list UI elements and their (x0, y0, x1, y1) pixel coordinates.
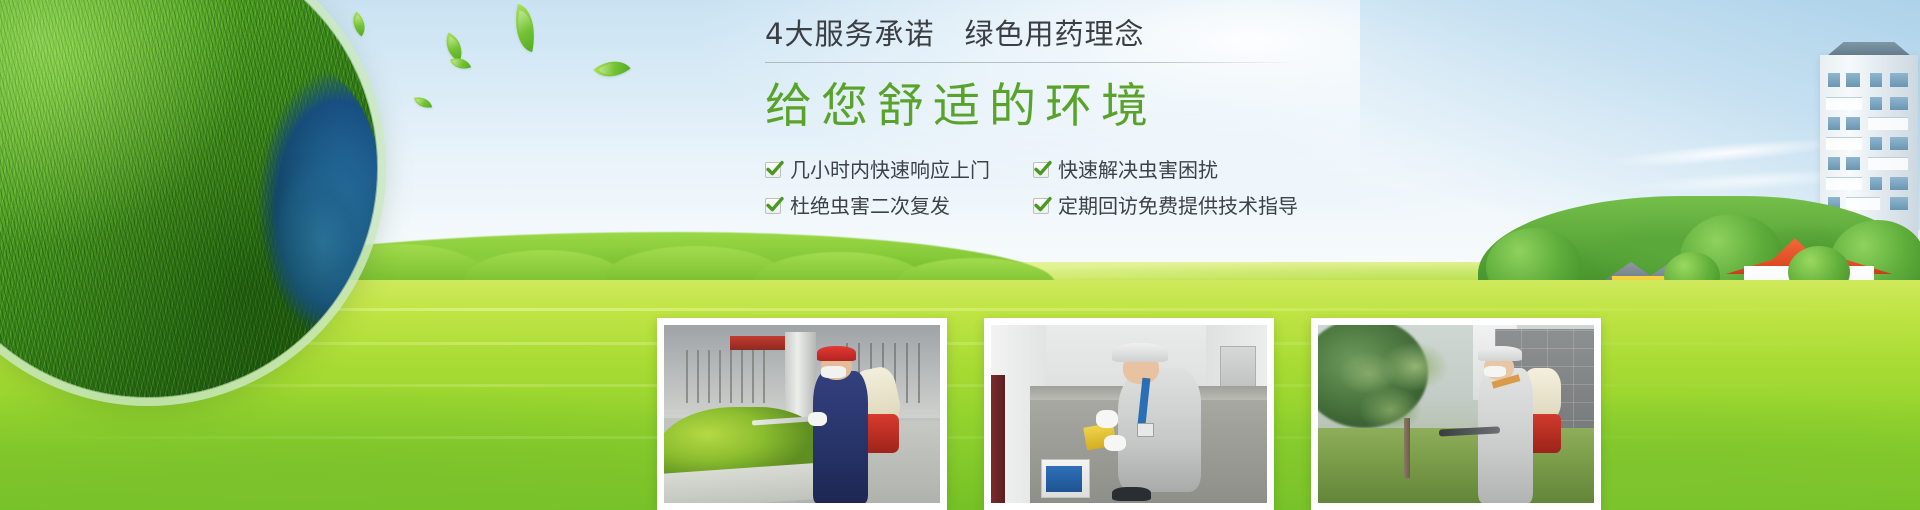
divider-line (765, 62, 1300, 63)
feature-list: 几小时内快速响应上门 快速解决虫害困扰 杜绝虫害二次复发 (765, 159, 1325, 217)
check-square-icon (1033, 198, 1049, 214)
check-square-icon (765, 162, 781, 178)
photo-card[interactable] (657, 318, 947, 510)
list-item: 杜绝虫害二次复发 (765, 195, 1033, 217)
grass-globe-icon (0, 0, 378, 398)
promo-banner: 4大服务承诺 绿色用药理念 给您舒适的环境 几小时内快速响应上门 快速解决虫害困 (0, 0, 1920, 510)
check-square-icon (1033, 162, 1049, 178)
list-item: 快速解决虫害困扰 (1033, 159, 1325, 181)
photo-card[interactable] (984, 318, 1274, 510)
list-item-label: 杜绝虫害二次复发 (790, 195, 950, 217)
photo-card-row (657, 318, 1601, 510)
service-photo-outdoor-spraying (664, 325, 940, 503)
list-item-label: 定期回访免费提供技术指导 (1058, 195, 1298, 217)
page-title: 给您舒适的环境 (765, 77, 1325, 137)
check-square-icon (765, 198, 781, 214)
list-item: 定期回访免费提供技术指导 (1033, 195, 1325, 217)
service-photo-indoor-bait (991, 325, 1267, 503)
service-photo-tree-spraying (1318, 325, 1594, 503)
list-item: 几小时内快速响应上门 (765, 159, 1033, 181)
banner-copy: 4大服务承诺 绿色用药理念 给您舒适的环境 几小时内快速响应上门 快速解决虫害困 (765, 12, 1325, 217)
list-item-label: 快速解决虫害困扰 (1058, 159, 1218, 181)
eyebrow-text: 4大服务承诺 绿色用药理念 (765, 12, 1325, 56)
list-item-label: 几小时内快速响应上门 (790, 159, 990, 181)
photo-card[interactable] (1311, 318, 1601, 510)
